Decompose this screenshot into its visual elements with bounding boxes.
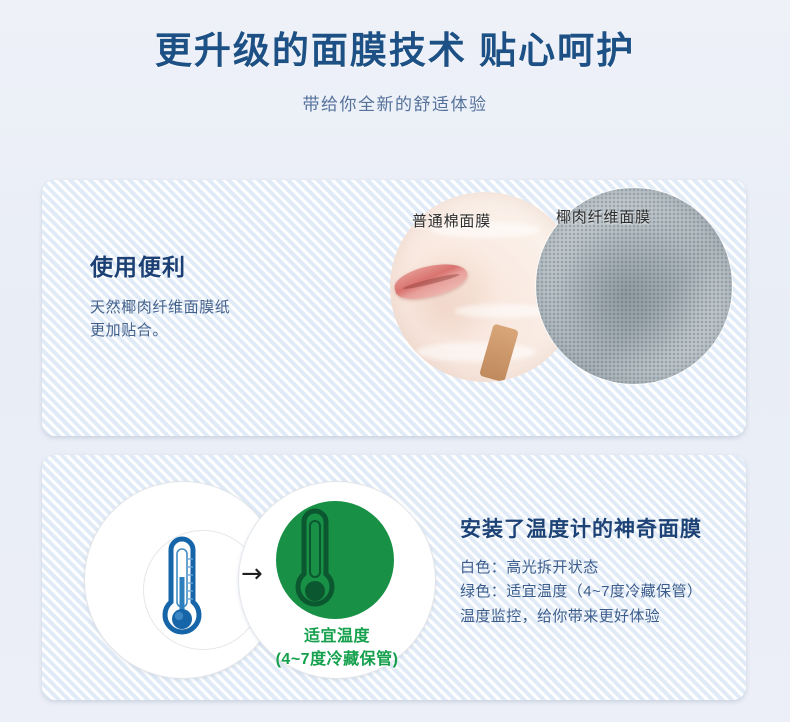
card-thermometer: → 适宜温度 (4~7度冷藏保管) 安装了温度计的神奇面膜 白色：高光拆开状态 … — [42, 455, 746, 700]
arrow-right-icon: → — [241, 561, 263, 587]
mask-comparison-photos: 普通棉面膜 椰肉纤维面膜 — [388, 180, 738, 436]
convenience-text-block: 使用便利 天然椰肉纤维面膜纸 更加贴合。 — [90, 248, 230, 343]
convenience-body: 天然椰肉纤维面膜纸 更加贴合。 — [90, 296, 230, 343]
mask-wrinkle — [454, 304, 550, 318]
thermometer-green-icon — [282, 505, 348, 620]
thermometer-title: 安装了温度计的神奇面膜 — [460, 513, 702, 543]
page-title: 更升级的面膜技术 贴心呵护 — [0, 28, 790, 74]
face-mouth — [391, 257, 470, 304]
convenience-title: 使用便利 — [90, 248, 230, 282]
green-caption-line-1: 适宜温度 — [212, 625, 462, 648]
mask-wrinkle — [416, 342, 536, 362]
convenience-body-line-1: 天然椰肉纤维面膜纸 — [90, 296, 230, 319]
thermometer-blue-icon — [150, 535, 214, 646]
green-caption-line-2: (4~7度冷藏保管) — [212, 648, 462, 671]
page-subtitle: 带给你全新的舒适体验 — [0, 90, 790, 115]
thermometer-diagram: → 适宜温度 (4~7度冷藏保管) — [66, 473, 456, 683]
thermometer-desc-line-1: 白色：高光拆开状态 — [460, 556, 702, 580]
green-temperature-caption: 适宜温度 (4~7度冷藏保管) — [212, 625, 462, 671]
photo-label-cotton-mask: 普通棉面膜 — [412, 210, 491, 231]
thermometer-text-block: 安装了温度计的神奇面膜 白色：高光拆开状态 绿色：适宜温度（4~7度冷藏保管） … — [460, 513, 702, 629]
thermometer-desc-line-3: 温度监控，给你带来更好体验 — [460, 605, 702, 629]
photo-label-coconut-fiber-mask: 椰肉纤维面膜 — [556, 206, 651, 227]
convenience-body-line-2: 更加贴合。 — [90, 319, 230, 342]
page-header: 更升级的面膜技术 贴心呵护 带给你全新的舒适体验 — [0, 0, 790, 115]
card-convenience: 使用便利 天然椰肉纤维面膜纸 更加贴合。 普通棉面膜 椰肉纤维面膜 — [42, 180, 746, 436]
thermometer-desc-line-2: 绿色：适宜温度（4~7度冷藏保管） — [460, 580, 702, 604]
